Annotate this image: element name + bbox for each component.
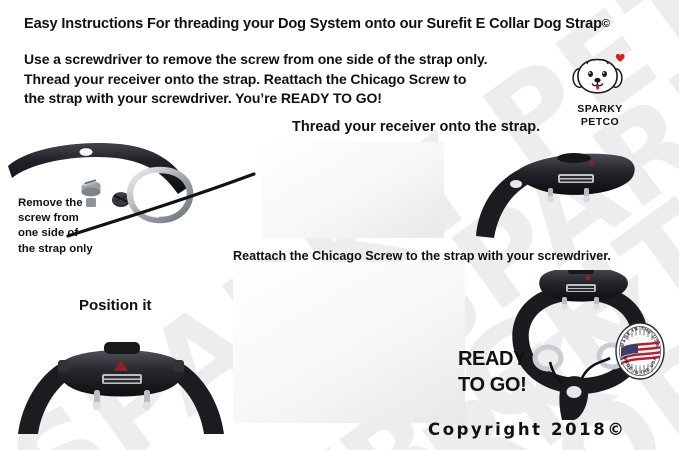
photo-hand-with-screwdriver	[233, 262, 465, 423]
caption-position-it: Position it	[79, 297, 152, 314]
intro-line-1: Use a screwdriver to remove the screw fr…	[24, 50, 487, 70]
caption-ready-to-go: READY TO GO!	[458, 346, 526, 398]
photo-position-receiver	[10, 328, 232, 436]
title-copyright-icon: ©	[602, 18, 610, 30]
made-in-usa-badge: MADE IN THE USA MADE IN THE USA	[614, 322, 666, 380]
intro-line-3: the strap with your screwdriver. You’re …	[24, 89, 487, 109]
caption-remove-screw: Remove the screw from one side of the st…	[18, 196, 93, 257]
logo-line-1: SPARKY	[562, 104, 638, 116]
heart-icon	[616, 54, 625, 62]
caption-remove-line-4: the strap only	[18, 242, 93, 257]
photo-receiver-on-strap	[470, 140, 660, 240]
eye-icon	[588, 71, 593, 77]
caption-remove-line-1: Remove the	[18, 196, 93, 211]
logo-line-2: PETCO	[562, 117, 638, 129]
brand-logo: SPARKY PETCO	[562, 52, 638, 120]
copyright-notice: Copyright 2018©	[428, 420, 624, 439]
caption-remove-line-3: one side of	[18, 226, 93, 241]
dog-face-icon	[562, 52, 638, 98]
photo-hand-threading-receiver	[262, 142, 444, 238]
caption-ready-line-2: TO GO!	[458, 372, 526, 398]
copyright-text: Copyright 2018	[428, 420, 607, 439]
page-title: Easy Instructions For threading your Dog…	[24, 16, 610, 32]
caption-ready-line-1: READY	[458, 346, 526, 372]
eye-icon	[602, 71, 607, 77]
usa-badge-icon: MADE IN THE USA MADE IN THE USA	[614, 322, 666, 380]
instruction-sheet: SPARKY PETCO SPARKY PETCO SPARKY PETCO C…	[0, 0, 679, 450]
caption-remove-line-2: screw from	[18, 211, 93, 226]
copyright-symbol-icon: ©	[607, 420, 624, 439]
intro-line-2: Thread your receiver onto the strap. Rea…	[24, 70, 487, 90]
intro-paragraph: Use a screwdriver to remove the screw fr…	[24, 50, 487, 109]
heading-thread-receiver: Thread your receiver onto the strap.	[292, 119, 540, 135]
heading-reattach-screw: Reattach the Chicago Screw to the strap …	[233, 249, 611, 263]
page-title-text: Easy Instructions For threading your Dog…	[24, 16, 602, 32]
